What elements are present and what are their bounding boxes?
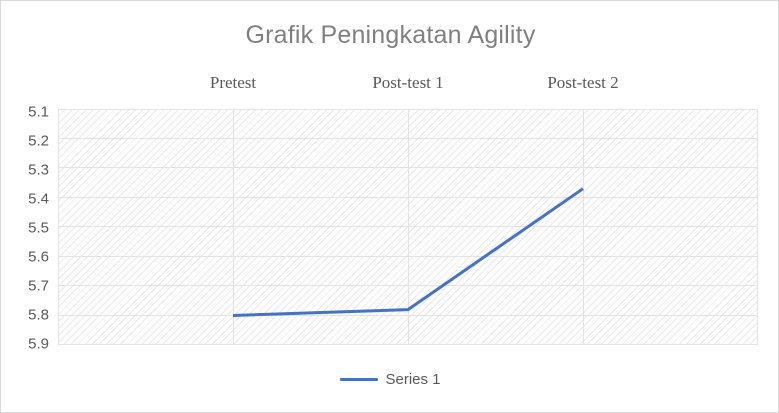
y-tick-label-5.5: 5.5	[28, 220, 49, 237]
y-tick-label-5.1: 5.1	[28, 104, 49, 121]
category-axis-labels: Pretest Post-test 1 Post-test 2	[58, 73, 758, 97]
y-tick-label-5.6: 5.6	[28, 249, 49, 266]
y-tick-label-5.8: 5.8	[28, 307, 49, 324]
category-label-post-test-1: Post-test 1	[372, 73, 443, 93]
chart-canvas: Grafik Peningkatan Agility Pretest Post-…	[0, 0, 779, 413]
y-tick-label-5.2: 5.2	[28, 133, 49, 150]
y-tick-label-5.7: 5.7	[28, 278, 49, 295]
category-label-pretest: Pretest	[210, 73, 256, 93]
y-tick-label-5.4: 5.4	[28, 191, 49, 208]
legend-label-series-1: Series 1	[385, 371, 440, 388]
chart-title: Grafik Peningkatan Agility	[1, 21, 779, 50]
series-line-series-1	[233, 189, 583, 316]
legend-swatch-series-1	[340, 378, 378, 381]
y-tick-label-5.3: 5.3	[28, 162, 49, 179]
plot-area	[58, 109, 758, 345]
series-line-chart	[58, 109, 758, 345]
y-tick-label-5.9: 5.9	[28, 336, 49, 353]
chart-legend: Series 1	[1, 371, 779, 388]
category-label-post-test-2: Post-test 2	[547, 73, 618, 93]
y-axis-labels: 5.1 5.2 5.3 5.4 5.5 5.6 5.7 5.8 5.9	[1, 109, 53, 345]
